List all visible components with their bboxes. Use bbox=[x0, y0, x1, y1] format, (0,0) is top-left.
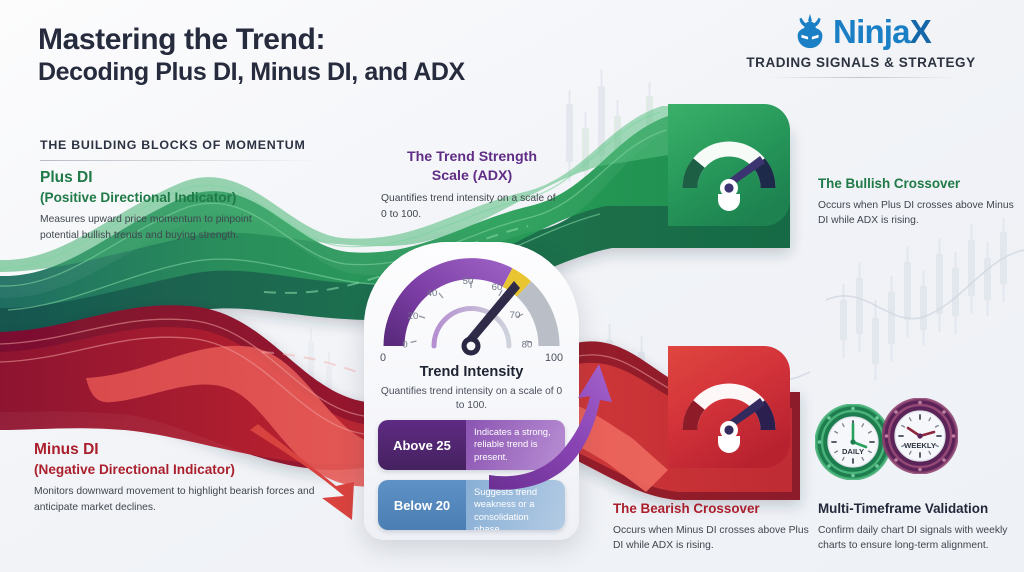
clock-icon: WEEKLY bbox=[882, 398, 958, 474]
bullish-crossover-body: Occurs when Plus DI crosses above Minus … bbox=[818, 198, 1014, 228]
speedometer-icon bbox=[668, 104, 790, 226]
page-title-line-1: Mastering the Trend: bbox=[38, 22, 465, 57]
trend-intensity-card: 0 20 40 50 60 70 80 0 100 bbox=[364, 242, 579, 540]
bearish-gauge-icon-wrap bbox=[668, 346, 790, 468]
card-title: Trend Intensity bbox=[364, 364, 579, 380]
brand-tagline: TRADING SIGNALS & STRATEGY bbox=[726, 55, 996, 70]
multi-timeframe-heading: Multi-Timeframe Validation bbox=[818, 500, 1020, 518]
svg-text:60: 60 bbox=[492, 282, 503, 293]
brand-lockup: NinjaX TRADING SIGNALS & STRATEGY bbox=[726, 12, 996, 78]
plus-di-body: Measures upward price momentum to pinpoi… bbox=[40, 212, 265, 242]
ninja-mask-icon bbox=[791, 12, 829, 50]
bullish-crossover-heading: The Bullish Crossover bbox=[818, 175, 1014, 193]
page-title-line-2: Decoding Plus DI, Minus DI, and ADX bbox=[38, 57, 465, 89]
svg-text:80: 80 bbox=[522, 340, 533, 351]
brand-name-accent: X bbox=[910, 13, 931, 50]
threshold-badge-below-20-text: Suggests trend weakness or a consolidati… bbox=[466, 480, 565, 530]
bullish-gauge-icon-wrap bbox=[668, 104, 790, 226]
threshold-badge-above-25[interactable]: Above 25 Indicates a strong, reliable tr… bbox=[378, 420, 565, 470]
trend-intensity-gauge: 0 20 40 50 60 70 80 0 100 bbox=[364, 248, 579, 366]
minus-di-body: Monitors downward movement to highlight … bbox=[34, 484, 324, 514]
daily-clock: DAILY bbox=[815, 404, 891, 480]
adx-intro-heading: The Trend Strength Scale (ADX) bbox=[381, 148, 563, 185]
bearish-crossover-body: Occurs when Minus DI crosses above Plus … bbox=[613, 523, 809, 553]
plus-di-block: Plus DI (Positive Directional Indicator)… bbox=[40, 168, 265, 243]
adx-intro-block: The Trend Strength Scale (ADX) Quantifie… bbox=[381, 148, 563, 222]
weekly-clock-label: WEEKLY bbox=[904, 441, 936, 450]
speedometer-icon bbox=[668, 346, 790, 468]
clock-icon: DAILY bbox=[815, 404, 891, 480]
infographic-canvas: Mastering the Trend: Decoding Plus DI, M… bbox=[0, 0, 1024, 572]
minus-di-subheading: (Negative Directional Indicator) bbox=[34, 461, 324, 479]
multi-timeframe-block: Multi-Timeframe Validation Confirm daily… bbox=[818, 500, 1020, 554]
gauge-band-active bbox=[394, 269, 508, 346]
multi-timeframe-body: Confirm daily chart DI signals with week… bbox=[818, 523, 1020, 553]
svg-text:40: 40 bbox=[427, 288, 438, 299]
section-kicker-divider bbox=[40, 160, 325, 161]
weekly-clock: WEEKLY bbox=[882, 398, 958, 474]
adx-intro-body: Quantifies trend intensity on a scale of… bbox=[381, 191, 563, 221]
brand-name: NinjaX bbox=[833, 15, 931, 48]
minus-di-heading: Minus DI (Negative Directional Indicator… bbox=[34, 440, 324, 479]
threshold-badge-above-25-text: Indicates a strong, reliable trend is pr… bbox=[466, 420, 565, 470]
bullish-crossover-block: The Bullish Crossover Occurs when Plus D… bbox=[818, 175, 1014, 229]
card-description: Quantifies trend intensity on a scale of… bbox=[378, 385, 565, 414]
svg-text:100: 100 bbox=[545, 352, 563, 364]
gauge-svg: 0 20 40 50 60 70 80 0 100 bbox=[364, 248, 579, 366]
gauge-band-inactive bbox=[524, 289, 549, 346]
plus-di-subheading: (Positive Directional Indicator) bbox=[40, 189, 265, 207]
svg-text:0: 0 bbox=[402, 340, 407, 351]
bearish-crossover-heading: The Bearish Crossover bbox=[613, 500, 809, 518]
bearish-crossover-block: The Bearish Crossover Occurs when Minus … bbox=[613, 500, 809, 554]
svg-text:50: 50 bbox=[463, 276, 474, 287]
minus-di-block: Minus DI (Negative Directional Indicator… bbox=[34, 440, 324, 515]
svg-text:20: 20 bbox=[408, 311, 419, 322]
svg-text:0: 0 bbox=[380, 352, 386, 364]
threshold-badge-below-20[interactable]: Below 20 Suggests trend weakness or a co… bbox=[378, 480, 565, 530]
threshold-badge-below-20-tag: Below 20 bbox=[378, 480, 466, 530]
svg-text:70: 70 bbox=[510, 310, 521, 321]
plus-di-heading: Plus DI (Positive Directional Indicator) bbox=[40, 168, 265, 207]
page-title: Mastering the Trend: Decoding Plus DI, M… bbox=[38, 22, 465, 89]
section-kicker: THE BUILDING BLOCKS OF MOMENTUM bbox=[40, 138, 306, 152]
brand-divider bbox=[766, 77, 956, 78]
daily-clock-label: DAILY bbox=[842, 447, 864, 456]
threshold-badge-above-25-tag: Above 25 bbox=[378, 420, 466, 470]
